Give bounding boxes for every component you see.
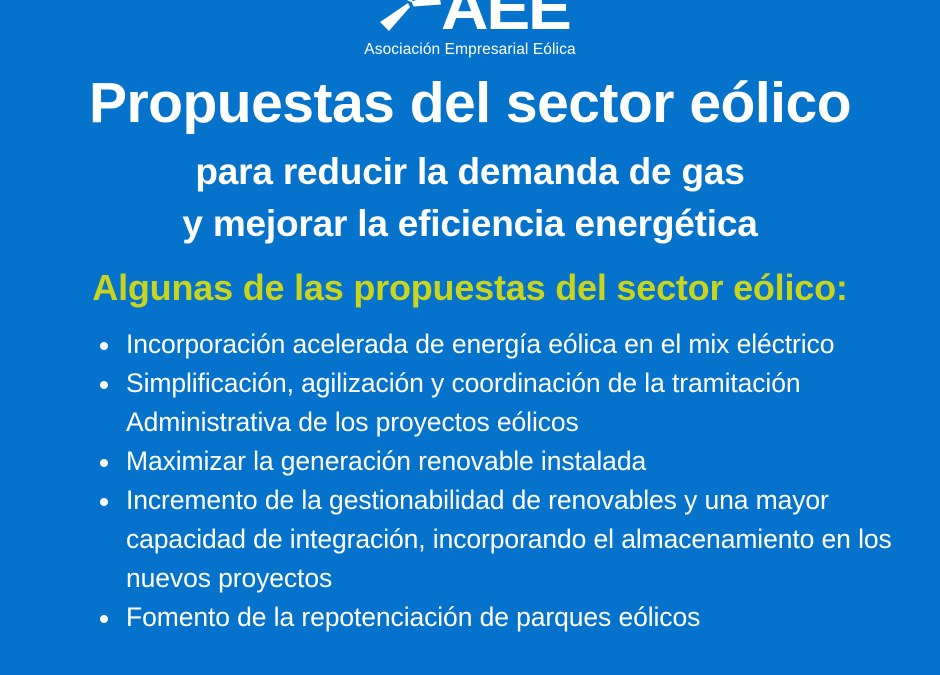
poster-canvas: AEE Asociación Empresarial Eólica Propue… (0, 0, 940, 675)
subtitle-line-2: y mejorar la eficiencia energética (0, 198, 940, 250)
page-title: Propuestas del sector eólico (0, 70, 940, 136)
bullet-dot-icon (100, 498, 108, 506)
list-item: Fomento de la repotenciación de parques … (92, 598, 904, 637)
bullet-dot-icon (100, 342, 108, 350)
wind-turbine-icon (377, 0, 443, 37)
list-item: Simplificación, agilización y coordinaci… (92, 364, 904, 442)
list-item: Incorporación acelerada de energía eólic… (92, 325, 904, 364)
list-item: Maximizar la generación renovable instal… (92, 442, 904, 481)
logo-wordmark: AEE (441, 0, 570, 38)
section-heading: Algunas de las propuestas del sector eól… (0, 265, 940, 311)
bullet-dot-icon (100, 459, 108, 467)
aee-logo: AEE Asociación Empresarial Eólica (0, 0, 940, 66)
subtitle-line-1: para reducir la demanda de gas (0, 146, 940, 198)
list-item-label: Incremento de la gestionabilidad de reno… (126, 485, 892, 593)
page-subtitle: para reducir la demanda de gas y mejorar… (0, 146, 940, 250)
list-item-label: Fomento de la repotenciación de parques … (126, 602, 700, 632)
proposals-list: Incorporación acelerada de energía eólic… (92, 325, 904, 637)
bullet-dot-icon (100, 381, 108, 389)
list-item-label: Maximizar la generación renovable instal… (126, 446, 646, 476)
logo-mark-row: AEE (377, 0, 562, 38)
list-item: Incremento de la gestionabilidad de reno… (92, 481, 904, 598)
logo-tagline: Asociación Empresarial Eólica (0, 41, 940, 59)
bullet-dot-icon (100, 615, 108, 623)
list-item-label: Simplificación, agilización y coordinaci… (126, 368, 801, 437)
list-item-label: Incorporación acelerada de energía eólic… (126, 329, 834, 359)
